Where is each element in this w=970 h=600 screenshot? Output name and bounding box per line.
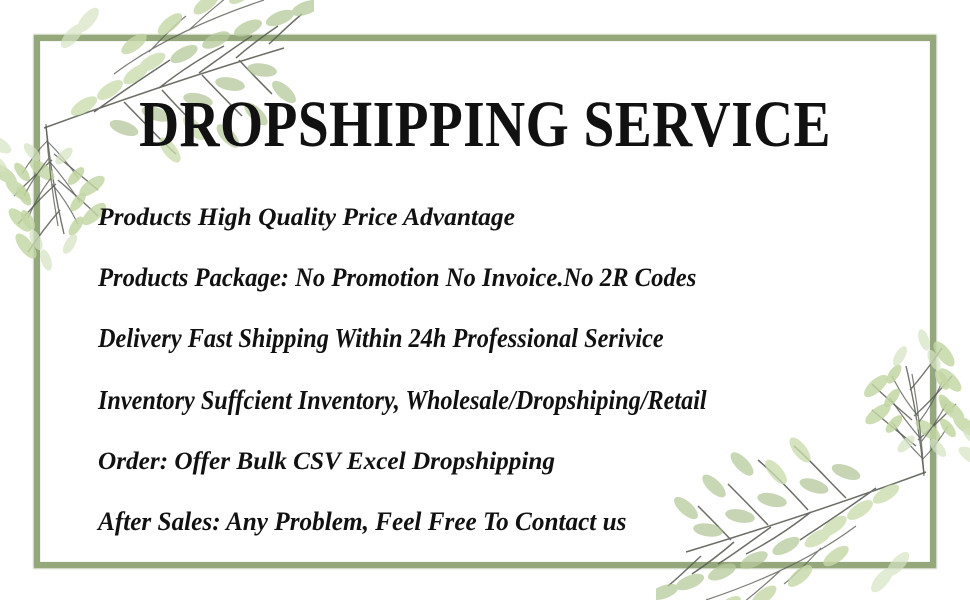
poster-canvas: DROPSHIPPING SERVICE Products High Quali… <box>0 0 970 600</box>
list-item: Products High Quality Price Advantage <box>98 186 938 247</box>
list-item: Inventory Suffcient Inventory, Wholesale… <box>98 369 837 430</box>
list-item: After Sales: Any Problem, Feel Free To C… <box>98 491 913 552</box>
list-item: Order: Offer Bulk CSV Excel Dropshipping <box>98 430 930 491</box>
page-title: DROPSHIPPING SERVICE <box>78 92 893 158</box>
list-item: Delivery Fast Shipping Within 24h Profes… <box>98 308 854 369</box>
list-item: Products Package: No Promotion No Invoic… <box>98 247 879 308</box>
feature-list: Products High Quality Price Advantage Pr… <box>98 186 938 552</box>
